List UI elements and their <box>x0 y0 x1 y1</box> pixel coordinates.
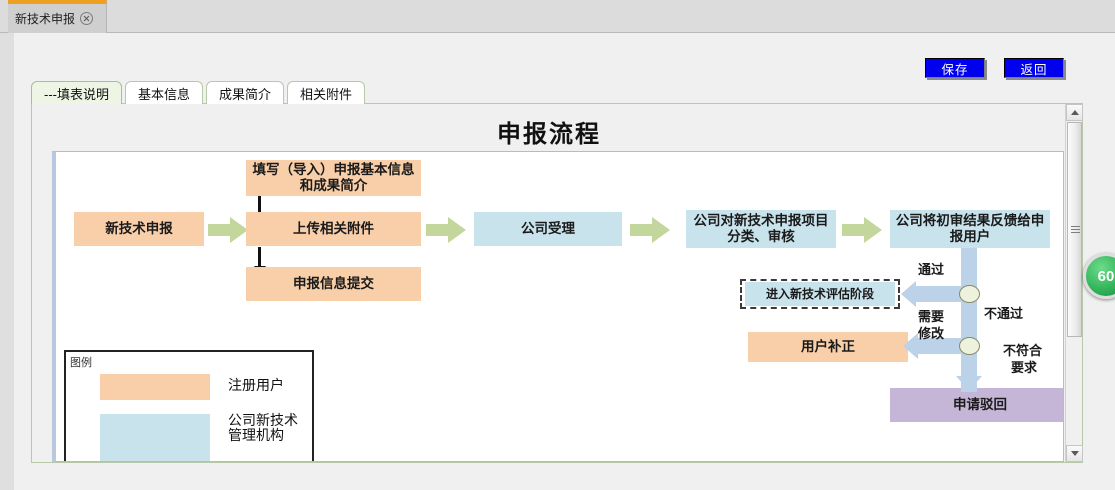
chevron-arrow-1 <box>208 217 248 243</box>
content-panel: 申报流程 新技术申报 <box>31 103 1083 463</box>
node-submit-info: 申报信息提交 <box>246 267 421 301</box>
edge-label-need-revise-line1: 需要 <box>918 310 944 325</box>
blue-trunk-vertical <box>961 248 977 392</box>
node-application-rejected: 申请驳回 <box>890 388 1064 422</box>
chevron-arrow-2 <box>426 217 466 243</box>
legend-row-management-org: 公司新技术 管理机构 <box>66 414 316 462</box>
scroll-thumb-grip <box>1071 226 1080 234</box>
blue-arrowhead-pass <box>901 281 916 307</box>
browser-tab-strip: 新技术申报 <box>0 0 1115 33</box>
legend-box: 图例 注册用户 公司新技术 管理机构 <box>64 350 314 462</box>
caret-down-icon[interactable] <box>1066 445 1083 462</box>
flowchart-figure: 申报流程 新技术申报 <box>32 104 1066 462</box>
node-enter-evaluation: 进入新技术评估阶段 <box>745 282 895 306</box>
node-user-supplement: 用户补正 <box>748 332 908 362</box>
tab-attachments[interactable]: 相关附件 <box>287 81 365 104</box>
decision-circle-revise <box>959 337 980 355</box>
browser-tab-new-tech-application[interactable]: 新技术申报 <box>8 0 107 33</box>
node-company-accept: 公司受理 <box>474 212 622 246</box>
legend-swatch-management-org <box>100 414 210 462</box>
edge-label-not-meet-line1: 不符合 <box>1003 344 1042 359</box>
form-tabs: ---填表说明 基本信息 成果简介 相关附件 <box>31 81 365 104</box>
node-classify-review: 公司对新技术申报项目分类、审核 <box>686 210 836 248</box>
edge-label-not-pass: 不通过 <box>984 307 1023 322</box>
chevron-arrow-3 <box>630 217 670 243</box>
node-upload-attachments: 上传相关附件 <box>246 212 421 246</box>
legend-label-registered-user: 注册用户 <box>228 379 284 394</box>
tab-form-instructions[interactable]: ---填表说明 <box>31 81 122 104</box>
caret-up-icon[interactable] <box>1066 104 1083 121</box>
legend-row-registered-user: 注册用户 <box>66 374 316 400</box>
blue-arrow-to-reject <box>956 376 982 391</box>
decision-circle-pass <box>959 285 980 303</box>
down-arrow-upload-to-submit <box>258 247 261 267</box>
close-circle-icon[interactable] <box>80 12 93 25</box>
blue-arrowhead-revise <box>903 333 918 359</box>
node-feedback-to-user: 公司将初审结果反馈给申报用户 <box>890 210 1050 248</box>
legend-label-management-org: 公司新技术 管理机构 <box>228 414 298 445</box>
down-arrow-fill-to-upload <box>258 194 261 214</box>
legend-label-management-org-line2: 管理机构 <box>228 429 298 444</box>
tab-basic-info[interactable]: 基本信息 <box>125 81 203 104</box>
edge-label-not-meet-line2: 要求 <box>1011 361 1037 376</box>
node-fill-info: 填写（导入）申报基本信息和成果简介 <box>246 160 421 196</box>
edge-label-need-revise-line2: 修改 <box>918 327 944 342</box>
figure-title: 申报流程 <box>32 114 1066 149</box>
floating-green-badge[interactable]: 60 <box>1083 253 1115 299</box>
save-button[interactable]: 保存 <box>925 58 985 78</box>
page-body: 保存 返回 ---填表说明 基本信息 成果简介 相关附件 申报流程 <box>14 33 1115 490</box>
vertical-scrollbar[interactable] <box>1065 104 1082 462</box>
flowchart-canvas: 新技术申报 填写（导入）申报基本信息和成果简介 上传相关附件 申报信息提交 公司… <box>52 151 1064 462</box>
legend-title: 图例 <box>70 354 92 370</box>
browser-tab-title: 新技术申报 <box>15 13 75 25</box>
tab-achievement-summary[interactable]: 成果简介 <box>206 81 284 104</box>
chevron-arrow-4 <box>842 217 882 243</box>
legend-swatch-registered-user <box>100 374 210 400</box>
action-bar: 保存 返回 <box>925 58 1064 78</box>
legend-label-management-org-line1: 公司新技术 <box>228 414 298 429</box>
node-start: 新技术申报 <box>74 212 204 246</box>
scroll-thumb[interactable] <box>1067 122 1082 337</box>
back-button[interactable]: 返回 <box>1004 58 1064 78</box>
edge-label-pass: 通过 <box>918 263 944 278</box>
